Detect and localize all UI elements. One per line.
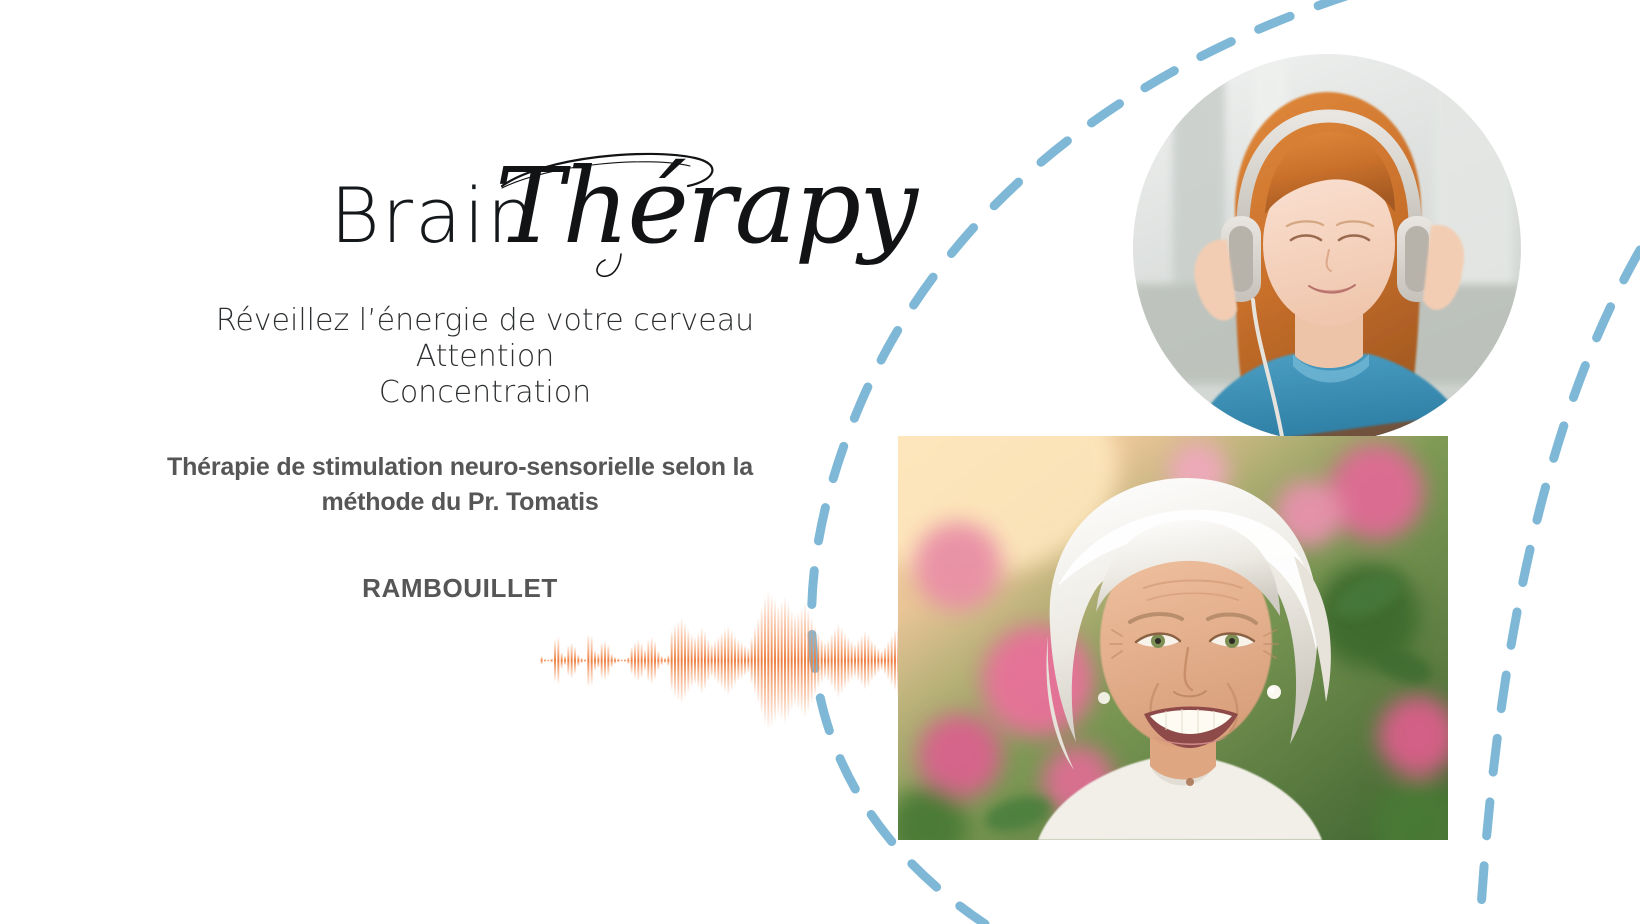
waveform-bar [554, 640, 556, 682]
location-city: RAMBOUILLET [60, 573, 860, 604]
waveform-bar [851, 641, 853, 680]
waveform-bar [701, 627, 703, 694]
audio-waveform-graphic [540, 588, 950, 733]
waveform-bar [884, 647, 886, 675]
waveform-bar [854, 644, 856, 677]
waveform-bar [774, 599, 776, 721]
waveform-bar [684, 622, 686, 698]
waveform-bar [731, 630, 733, 691]
waveform-bar [757, 617, 759, 703]
waveform-bar [777, 605, 779, 716]
waveform-bar [561, 652, 563, 669]
waveform-bar [711, 644, 713, 677]
waveform-bar [847, 637, 849, 684]
waveform-bar [817, 633, 819, 689]
waveform-bar [677, 620, 679, 701]
waveform-bar [747, 648, 749, 673]
tagline-line-1: Réveillez l’énergie de votre cerveau [80, 303, 890, 339]
waveform-bar [541, 656, 543, 664]
smiling-senior-woman-photo [898, 436, 1448, 840]
waveform-bar [741, 642, 743, 678]
waveform-bar [871, 640, 873, 682]
waveform-bar [771, 594, 773, 727]
waveform-bar [607, 645, 609, 677]
waveform-bar [691, 634, 693, 687]
waveform-bar [877, 648, 879, 673]
waveform-bar [894, 630, 896, 691]
waveform-bar [717, 637, 719, 684]
method-line-2: méthode du Pr. Tomatis [60, 485, 860, 520]
waveform-bar [664, 658, 666, 664]
waveform-bar [857, 640, 859, 682]
waveform-bar [821, 638, 823, 682]
waveform-bar [661, 656, 663, 666]
waveform-bar [704, 631, 706, 689]
brand-headline: Brain Thérapy [150, 150, 850, 280]
waveform-bar [584, 659, 586, 662]
waveform-bar [617, 658, 619, 662]
waveform-bar [754, 627, 756, 694]
waveform-bar [647, 640, 649, 682]
waveform-bar [694, 637, 696, 684]
waveform-bar [791, 610, 793, 710]
waveform-bar [831, 634, 833, 687]
waveform-bar [837, 623, 839, 698]
waveform-bar [864, 631, 866, 689]
location-block: RAMBOUILLET [60, 573, 860, 604]
tagline-block: Réveillez l’énergie de votre cerveau Att… [80, 303, 890, 411]
waveform-bar [667, 655, 669, 666]
waveform-bar [787, 602, 789, 719]
waveform-bar [567, 645, 569, 676]
waveform-bar [591, 635, 593, 685]
waveform-bar [557, 637, 559, 684]
waveform-bar [811, 617, 813, 703]
waveform-bar [657, 651, 659, 670]
waveform-bar [604, 641, 606, 680]
waveform-bar [687, 629, 689, 693]
waveform-bar [681, 617, 683, 703]
waveform-bar [601, 642, 603, 678]
waveform-bar [627, 657, 629, 664]
waveform-bar [784, 597, 786, 725]
waveform-bar [634, 642, 636, 678]
waveform-bar [571, 642, 573, 678]
waveform-bar [881, 651, 883, 670]
waveform-bar [814, 626, 816, 696]
method-line-1: Thérapie de stimulation neuro-sensoriell… [60, 450, 860, 485]
waveform-bar [707, 640, 709, 682]
girl-with-headphones-photo [1133, 54, 1521, 442]
waveform-bar [721, 633, 723, 689]
waveform-bar [744, 645, 746, 676]
waveform-bar [761, 606, 763, 714]
waveform-bar [587, 634, 589, 687]
waveform-bar [644, 649, 646, 671]
waveform-bar [697, 633, 699, 689]
waveform-bar [714, 641, 716, 680]
waveform-bar [654, 641, 656, 680]
waveform-bar [827, 640, 829, 682]
tagline-line-3: Concentration [80, 375, 890, 411]
waveform-bar [597, 653, 599, 668]
waveform-bar [641, 643, 643, 678]
waveform-bar [794, 615, 796, 707]
waveform-bar [547, 660, 549, 662]
waveform-bar [611, 654, 613, 668]
waveform-bar [801, 608, 803, 714]
waveform-bar [844, 633, 846, 689]
waveform-bar [874, 644, 876, 677]
waveform-bar [764, 597, 766, 725]
waveform-bar [861, 635, 863, 685]
waveform-bar [781, 601, 783, 721]
waveform-bar [841, 627, 843, 694]
waveform-bar [551, 658, 553, 662]
waveform-bar [867, 634, 869, 687]
waveform-bar [544, 659, 546, 662]
waveform-bar [887, 641, 889, 680]
waveform-bar [624, 659, 626, 662]
waveform-bar [614, 657, 616, 664]
waveform-bar [807, 609, 809, 712]
waveform-bar [621, 660, 623, 662]
waveform-bar [734, 635, 736, 685]
waveform-bar [767, 591, 769, 730]
tagline-line-2: Attention [80, 339, 890, 375]
waveform-bar [594, 650, 596, 671]
waveform-bar [564, 656, 566, 666]
method-statement: Thérapie de stimulation neuro-sensoriell… [60, 450, 860, 520]
waveform-bar [727, 626, 729, 696]
waveform-bar [674, 624, 676, 696]
waveform-bar [824, 642, 826, 678]
waveform-bar [737, 640, 739, 682]
waveform-bar [891, 635, 893, 685]
waveform-bar [577, 654, 579, 667]
waveform-bar [581, 658, 583, 664]
poster-canvas: Brain Thérapy Réveillez l’énergie de vot… [0, 0, 1640, 924]
waveform-bar [631, 647, 633, 675]
waveform-bar [751, 637, 753, 684]
waveform-bar [637, 640, 639, 682]
waveform-bar [574, 647, 576, 675]
waveform-bar [671, 630, 673, 691]
waveform-bar [804, 604, 806, 718]
waveform-bar [651, 637, 653, 684]
waveform-bar [797, 612, 799, 709]
waveform-bar [724, 629, 726, 693]
waveform-bar [834, 629, 836, 693]
